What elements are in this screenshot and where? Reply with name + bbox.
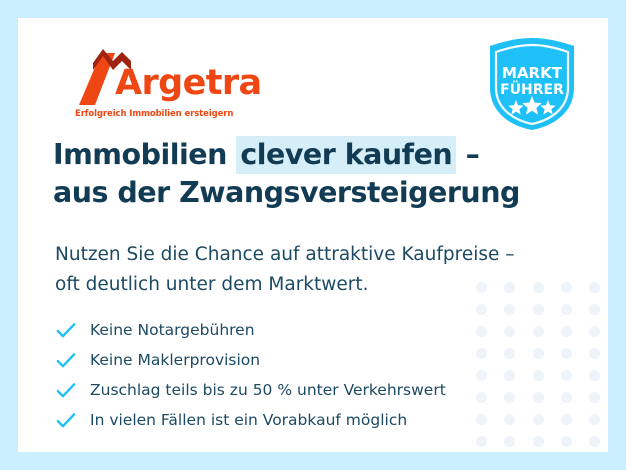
decoration-dot [589, 304, 600, 315]
decoration-dot [533, 414, 544, 425]
decoration-dot [589, 392, 600, 403]
decoration-dot [476, 436, 487, 447]
headline-suffix: – [456, 138, 479, 171]
decoration-dot [561, 304, 572, 315]
check-icon [56, 350, 82, 370]
check-icon [56, 410, 82, 430]
headline: Immobilien clever kaufen – aus der Zwang… [53, 136, 573, 212]
decoration-dot [589, 414, 600, 425]
decoration-dot [533, 304, 544, 315]
decoration-dot [533, 392, 544, 403]
benefit-item: Zuschlag teils bis zu 50 % unter Verkehr… [56, 375, 526, 405]
benefit-label: Keine Notargebühren [82, 321, 255, 339]
decoration-dot [589, 436, 600, 447]
decoration-dot [589, 348, 600, 359]
decoration-dot [476, 304, 487, 315]
benefit-label: In vielen Fällen ist ein Vorabkauf mögli… [82, 411, 407, 429]
headline-line-2: aus der Zwangsversteigerung [53, 174, 573, 212]
decoration-dot [589, 326, 600, 337]
subheadline-line-1: Nutzen Sie die Chance auf attraktive Kau… [55, 240, 555, 270]
decoration-dot [561, 326, 572, 337]
decoration-dot [561, 370, 572, 381]
decoration-dot [561, 414, 572, 425]
decoration-dot [504, 304, 515, 315]
decoration-dot [561, 348, 572, 359]
headline-line-1: Immobilien clever kaufen – [53, 136, 573, 174]
logo-tagline: Erfolgreich Immobilien ersteigern [75, 109, 233, 119]
subheadline: Nutzen Sie die Chance auf attraktive Kau… [55, 240, 555, 300]
decoration-dot [533, 348, 544, 359]
benefit-item: Keine Maklerprovision [56, 345, 526, 375]
decoration-dot [533, 436, 544, 447]
logo-wordmark: Argetra [115, 66, 262, 101]
headline-prefix: Immobilien [53, 138, 236, 171]
benefit-item: Keine Notargebühren [56, 315, 526, 345]
decoration-dot [561, 282, 572, 293]
headline-highlight: clever kaufen [236, 136, 456, 174]
decoration-dot [561, 392, 572, 403]
subheadline-line-2: oft deutlich unter dem Marktwert. [55, 270, 555, 300]
decoration-dot [589, 370, 600, 381]
decoration-dot [533, 370, 544, 381]
badge-line2: FÜHRER [500, 80, 564, 98]
check-icon [56, 380, 82, 400]
benefit-label: Zuschlag teils bis zu 50 % unter Verkehr… [82, 381, 446, 399]
decoration-dot [589, 282, 600, 293]
market-leader-badge: MARKT FÜHRER [486, 36, 578, 132]
logo-lockup: Argetra [58, 49, 318, 107]
benefit-label: Keine Maklerprovision [82, 351, 260, 369]
banner-card: Argetra Erfolgreich Immobilien ersteiger… [18, 18, 608, 452]
decoration-dot [504, 436, 515, 447]
benefit-item: In vielen Fällen ist ein Vorabkauf mögli… [56, 405, 526, 435]
benefit-list: Keine NotargebührenKeine Maklerprovision… [56, 315, 526, 435]
check-icon [56, 320, 82, 340]
badge-line1: MARKT [502, 64, 563, 82]
decoration-dot [533, 326, 544, 337]
decoration-dot [561, 436, 572, 447]
advertisement-banner[interactable]: Argetra Erfolgreich Immobilien ersteiger… [0, 0, 626, 470]
brand-logo[interactable]: Argetra Erfolgreich Immobilien ersteiger… [58, 49, 318, 107]
